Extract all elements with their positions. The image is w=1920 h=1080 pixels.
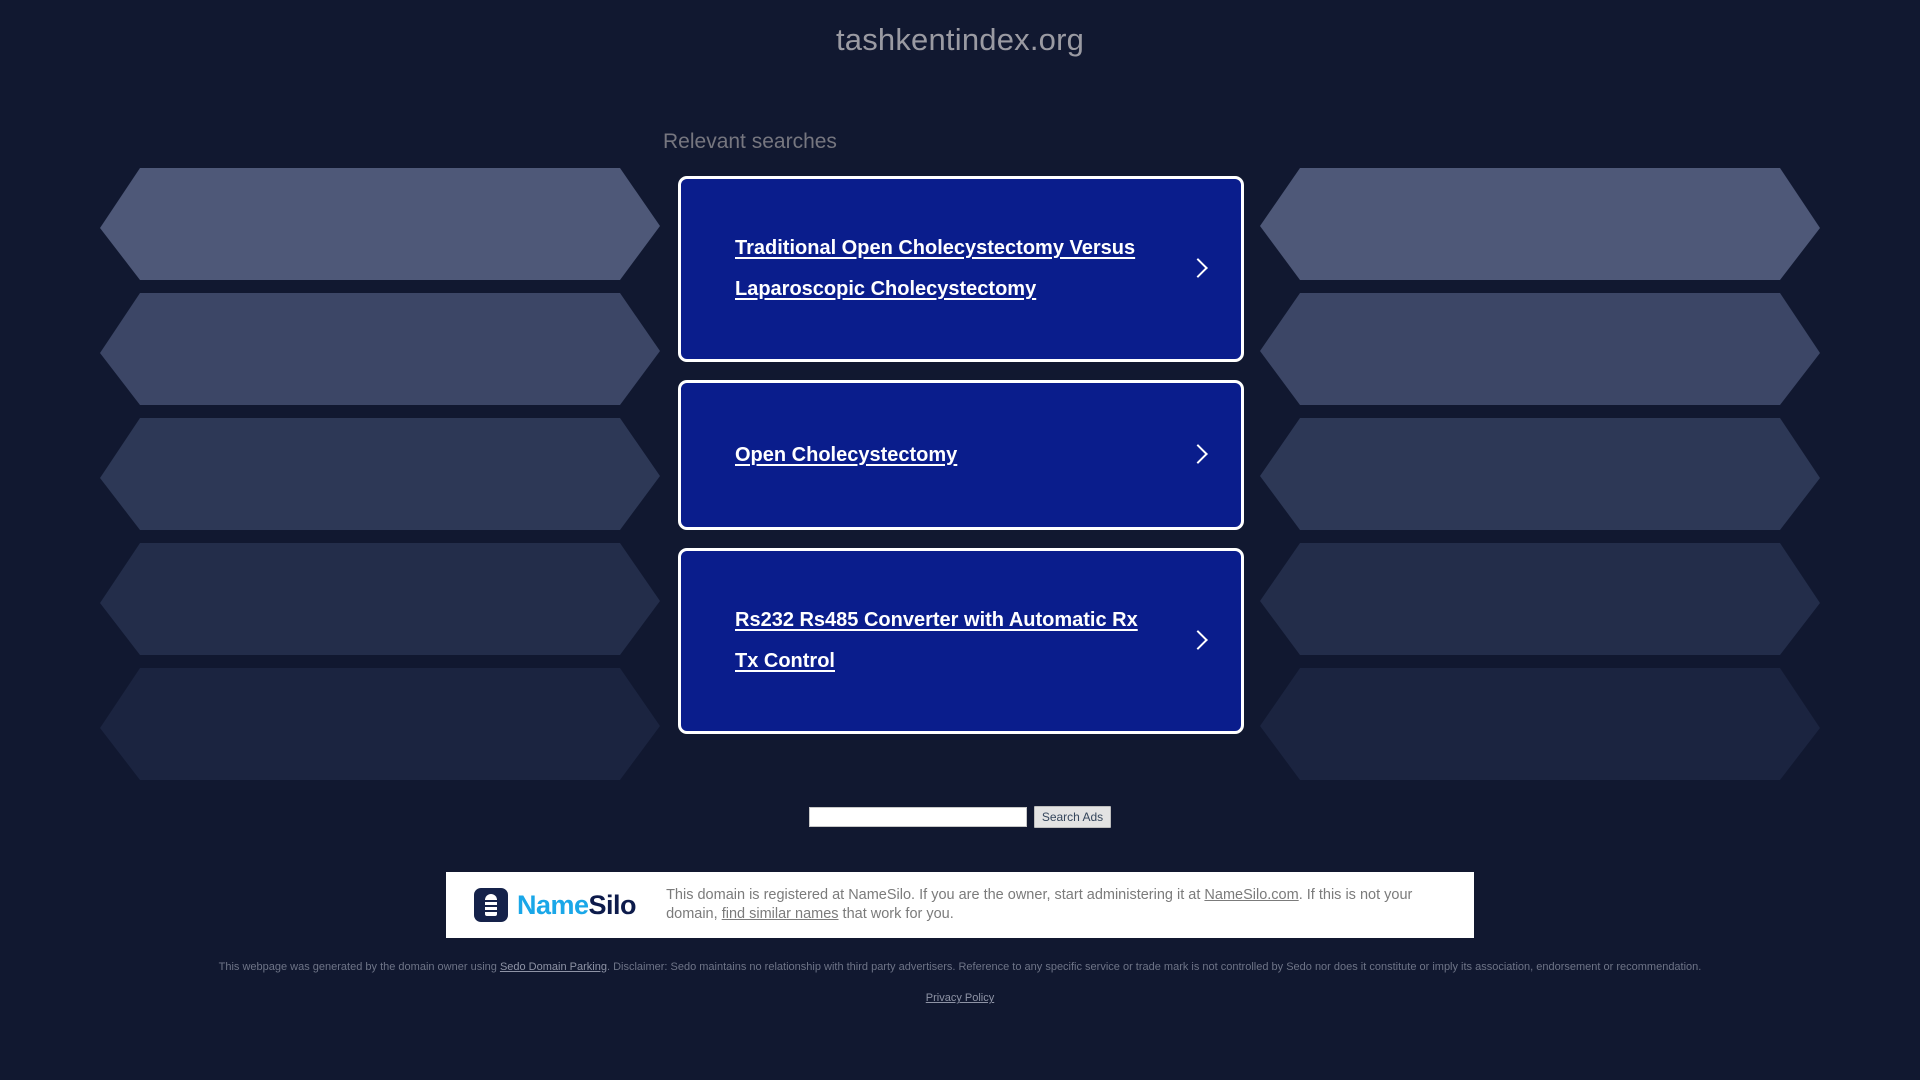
privacy-policy-row: Privacy Policy [0,988,1920,1006]
ad-card-3-title[interactable]: Rs232 Rs485 Converter with Automatic Rx … [735,600,1185,682]
ad-card-list: Traditional Open Cholecystectomy Versus … [678,176,1244,752]
ad-card-1[interactable]: Traditional Open Cholecystectomy Versus … [678,176,1244,362]
ad-card-2-title[interactable]: Open Cholecystectomy [735,435,1185,476]
sedo-domain-parking-link[interactable]: Sedo Domain Parking [500,961,607,973]
parked-domain-page: tashkentindex.org Relevant searches Trad… [0,0,1920,1080]
search-ads-button[interactable]: Search Ads [1034,806,1111,828]
namesilo-text-3: that work for you. [839,906,954,922]
ad-card-3[interactable]: Rs232 Rs485 Converter with Automatic Rx … [678,548,1244,734]
silo-icon [474,888,508,922]
footer: This webpage was generated by the domain… [0,960,1920,1006]
namesilo-logo-silo: Silo [589,890,637,921]
chevron-right-icon [1185,628,1211,654]
footer-text-2: . Disclaimer: Sedo maintains no relation… [607,961,1701,973]
namesilo-com-link[interactable]: NameSilo.com [1204,887,1298,903]
page-title: tashkentindex.org [0,22,1920,58]
namesilo-logo: NameSilo [474,888,636,922]
chevron-right-icon [1185,442,1211,468]
find-similar-names-link[interactable]: find similar names [722,906,839,922]
hexagon-band-stack-right [1260,168,1820,828]
chevron-right-icon [1185,256,1211,282]
namesilo-text-1: This domain is registered at NameSilo. I… [666,887,1204,903]
search-ads-bar: Search Ads [0,806,1920,828]
ad-card-1-title[interactable]: Traditional Open Cholecystectomy Versus … [735,228,1185,310]
footer-text-1: This webpage was generated by the domain… [219,961,500,973]
namesilo-banner: NameSilo This domain is registered at Na… [446,872,1474,938]
ad-card-2[interactable]: Open Cholecystectomy [678,380,1244,530]
search-input[interactable] [809,807,1027,827]
privacy-policy-link[interactable]: Privacy Policy [926,992,994,1004]
relevant-searches-heading: Relevant searches [663,130,837,154]
footer-disclaimer: This webpage was generated by the domain… [0,960,1920,975]
namesilo-logo-name: Name [517,890,589,921]
hexagon-band-stack-left [100,168,660,828]
namesilo-banner-text: This domain is registered at NameSilo. I… [666,886,1456,924]
